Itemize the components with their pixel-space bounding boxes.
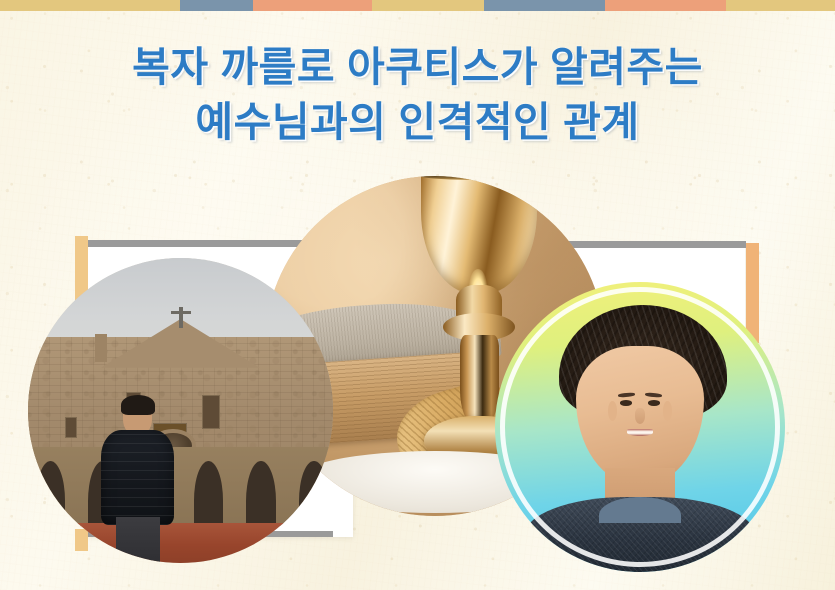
church-portico: [28, 447, 333, 526]
person-trousers: [116, 517, 160, 563]
portico-arch: [36, 461, 66, 526]
portrait-white-ring: [500, 287, 780, 567]
courtyard-ground: [28, 523, 333, 563]
color-bar-segment-1: [0, 0, 180, 11]
church-window: [202, 395, 220, 429]
church-courtyard-photo: [28, 258, 333, 563]
church-chimney: [95, 334, 107, 361]
portico-arch: [194, 461, 224, 526]
color-bar-segment-3: [253, 0, 372, 11]
rooftop-cross-icon: [179, 307, 183, 328]
color-bar-segment-2: [180, 0, 253, 11]
color-bar-segment-5: [484, 0, 605, 11]
color-bar-segment-4: [372, 0, 485, 11]
standing-person: [101, 398, 174, 563]
person-puffer-jacket: [101, 430, 174, 526]
right-frame-accent-vertical: [746, 243, 759, 343]
chalice-stem: [460, 335, 499, 426]
chalice-rim: [420, 176, 538, 180]
color-bar-segment-7: [726, 0, 835, 11]
portico-arch: [299, 461, 329, 526]
carlo-acutis-portrait: [495, 282, 785, 572]
decorative-color-bar: [0, 0, 835, 11]
color-bar-segment-6: [605, 0, 726, 11]
presentation-slide: 복자 까를로 아쿠티스가 알려주는 예수님과의 인격적인 관계: [0, 0, 835, 590]
person-hair: [121, 395, 155, 415]
portico-arch: [246, 461, 276, 526]
church-window: [65, 417, 77, 438]
